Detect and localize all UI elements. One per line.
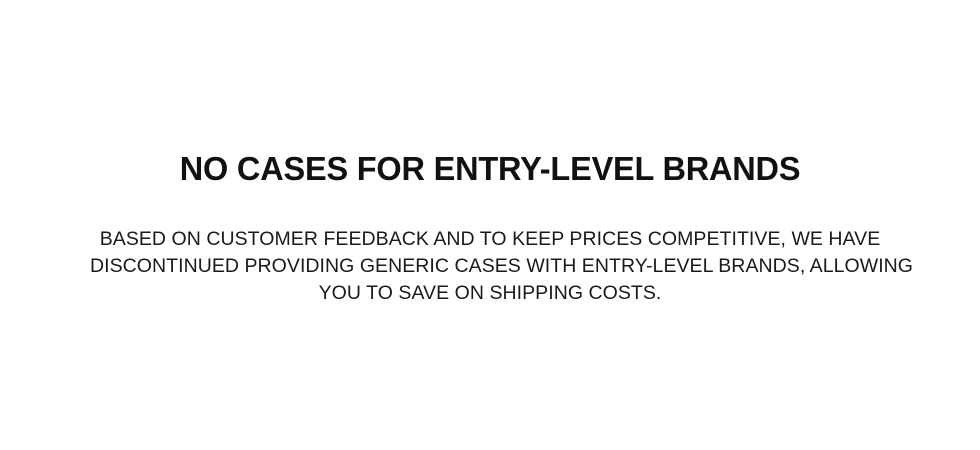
page-title: NO CASES FOR ENTRY-LEVEL BRANDS [180, 152, 801, 186]
body-line: BASED ON CUSTOMER FEEDBACK AND TO KEEP P… [90, 226, 890, 253]
body-line: YOU TO SAVE ON SHIPPING COSTS. [90, 280, 890, 307]
notice-banner: NO CASES FOR ENTRY-LEVEL BRANDS BASED ON… [0, 0, 980, 450]
notice-body-text: BASED ON CUSTOMER FEEDBACK AND TO KEEP P… [90, 226, 890, 307]
body-line: DISCONTINUED PROVIDING GENERIC CASES WIT… [90, 253, 890, 280]
